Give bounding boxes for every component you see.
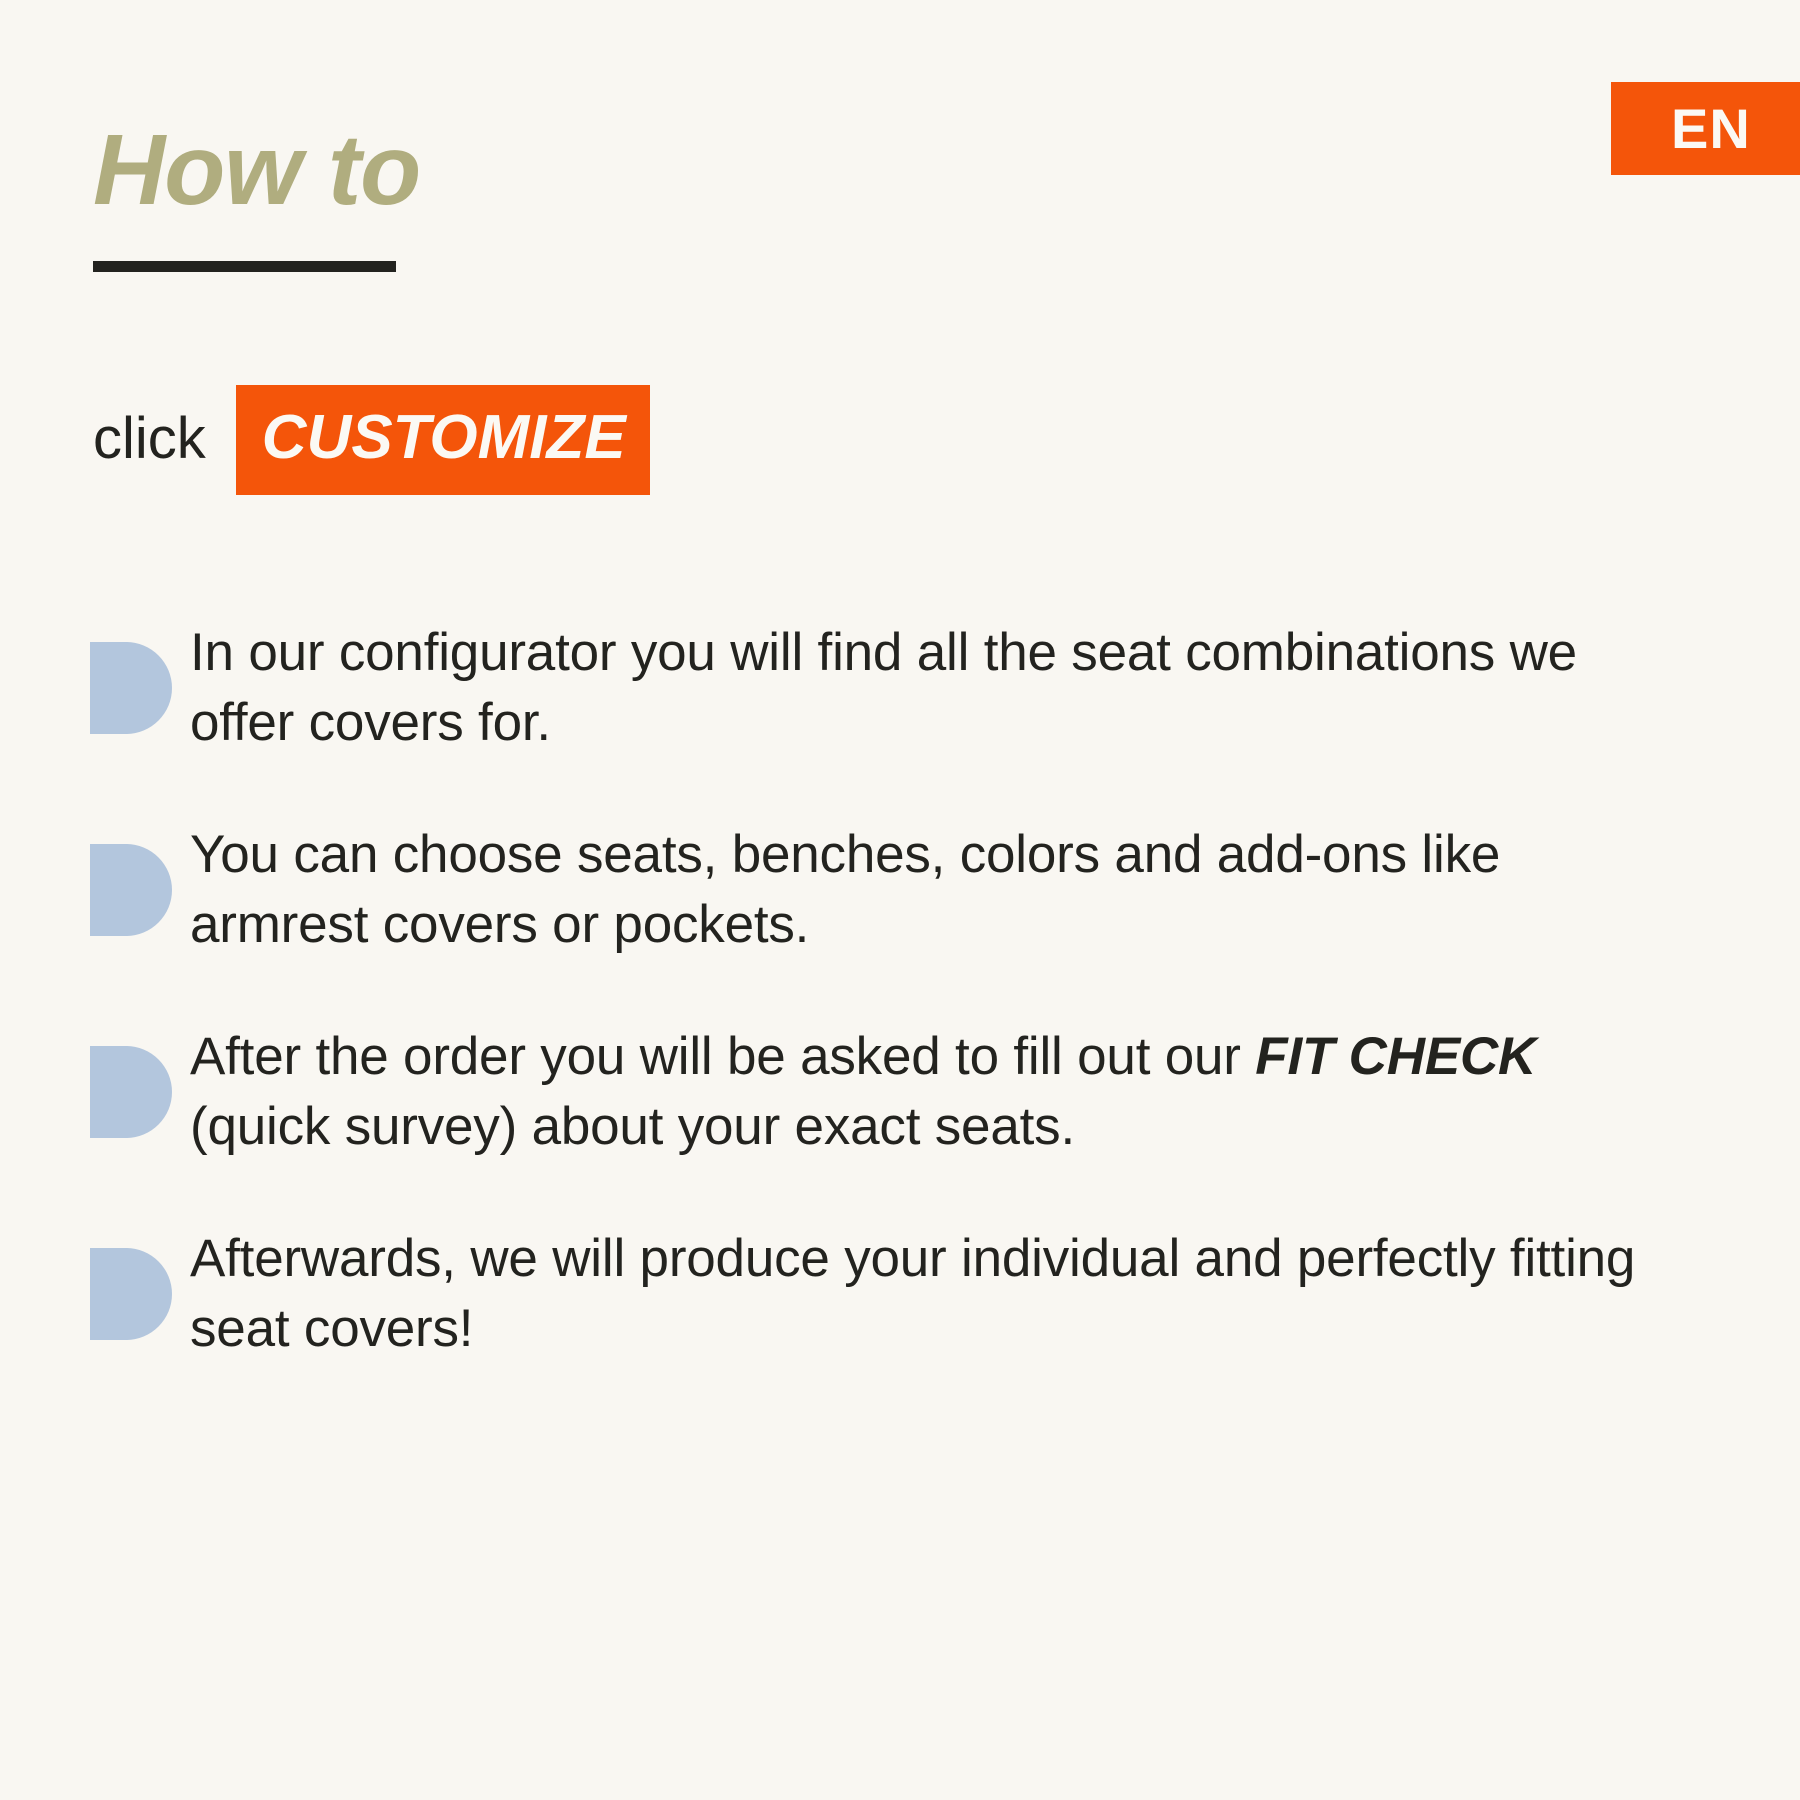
d-shape-bullet-icon bbox=[90, 844, 172, 936]
step-text: In our configurator you will find all th… bbox=[190, 618, 1690, 758]
customize-button[interactable]: CUSTOMIZE bbox=[236, 385, 650, 495]
plain-text: You can choose seats, benches, colors an… bbox=[190, 825, 1500, 954]
list-item: Afterwards, we will produce your individ… bbox=[90, 1224, 1690, 1364]
list-item: You can choose seats, benches, colors an… bbox=[90, 820, 1690, 960]
step-text: After the order you will be asked to fil… bbox=[190, 1022, 1690, 1162]
step-text: You can choose seats, benches, colors an… bbox=[190, 820, 1690, 960]
title-underline-rule bbox=[93, 261, 396, 272]
d-shape-bullet-icon bbox=[90, 642, 172, 734]
steps-list: In our configurator you will find all th… bbox=[90, 618, 1690, 1364]
cta-line: click CUSTOMIZE bbox=[93, 385, 650, 495]
language-badge-label: EN bbox=[1671, 101, 1751, 157]
plain-text: Afterwards, we will produce your individ… bbox=[190, 1229, 1635, 1358]
language-badge[interactable]: EN bbox=[1611, 82, 1800, 175]
page-title: How to bbox=[93, 118, 420, 223]
emphasized-text: FIT CHECK bbox=[1255, 1027, 1536, 1086]
d-shape-bullet-icon bbox=[90, 1046, 172, 1138]
plain-text: (quick survey) about your exact seats. bbox=[190, 1097, 1075, 1156]
plain-text: In our configurator you will find all th… bbox=[190, 623, 1577, 752]
d-shape-bullet-icon bbox=[90, 1248, 172, 1340]
title-block: How to bbox=[93, 118, 420, 272]
list-item: After the order you will be asked to fil… bbox=[90, 1022, 1690, 1162]
cta-prefix-label: click bbox=[93, 410, 206, 468]
step-text: Afterwards, we will produce your individ… bbox=[190, 1224, 1690, 1364]
plain-text: After the order you will be asked to fil… bbox=[190, 1027, 1255, 1086]
list-item: In our configurator you will find all th… bbox=[90, 618, 1690, 758]
